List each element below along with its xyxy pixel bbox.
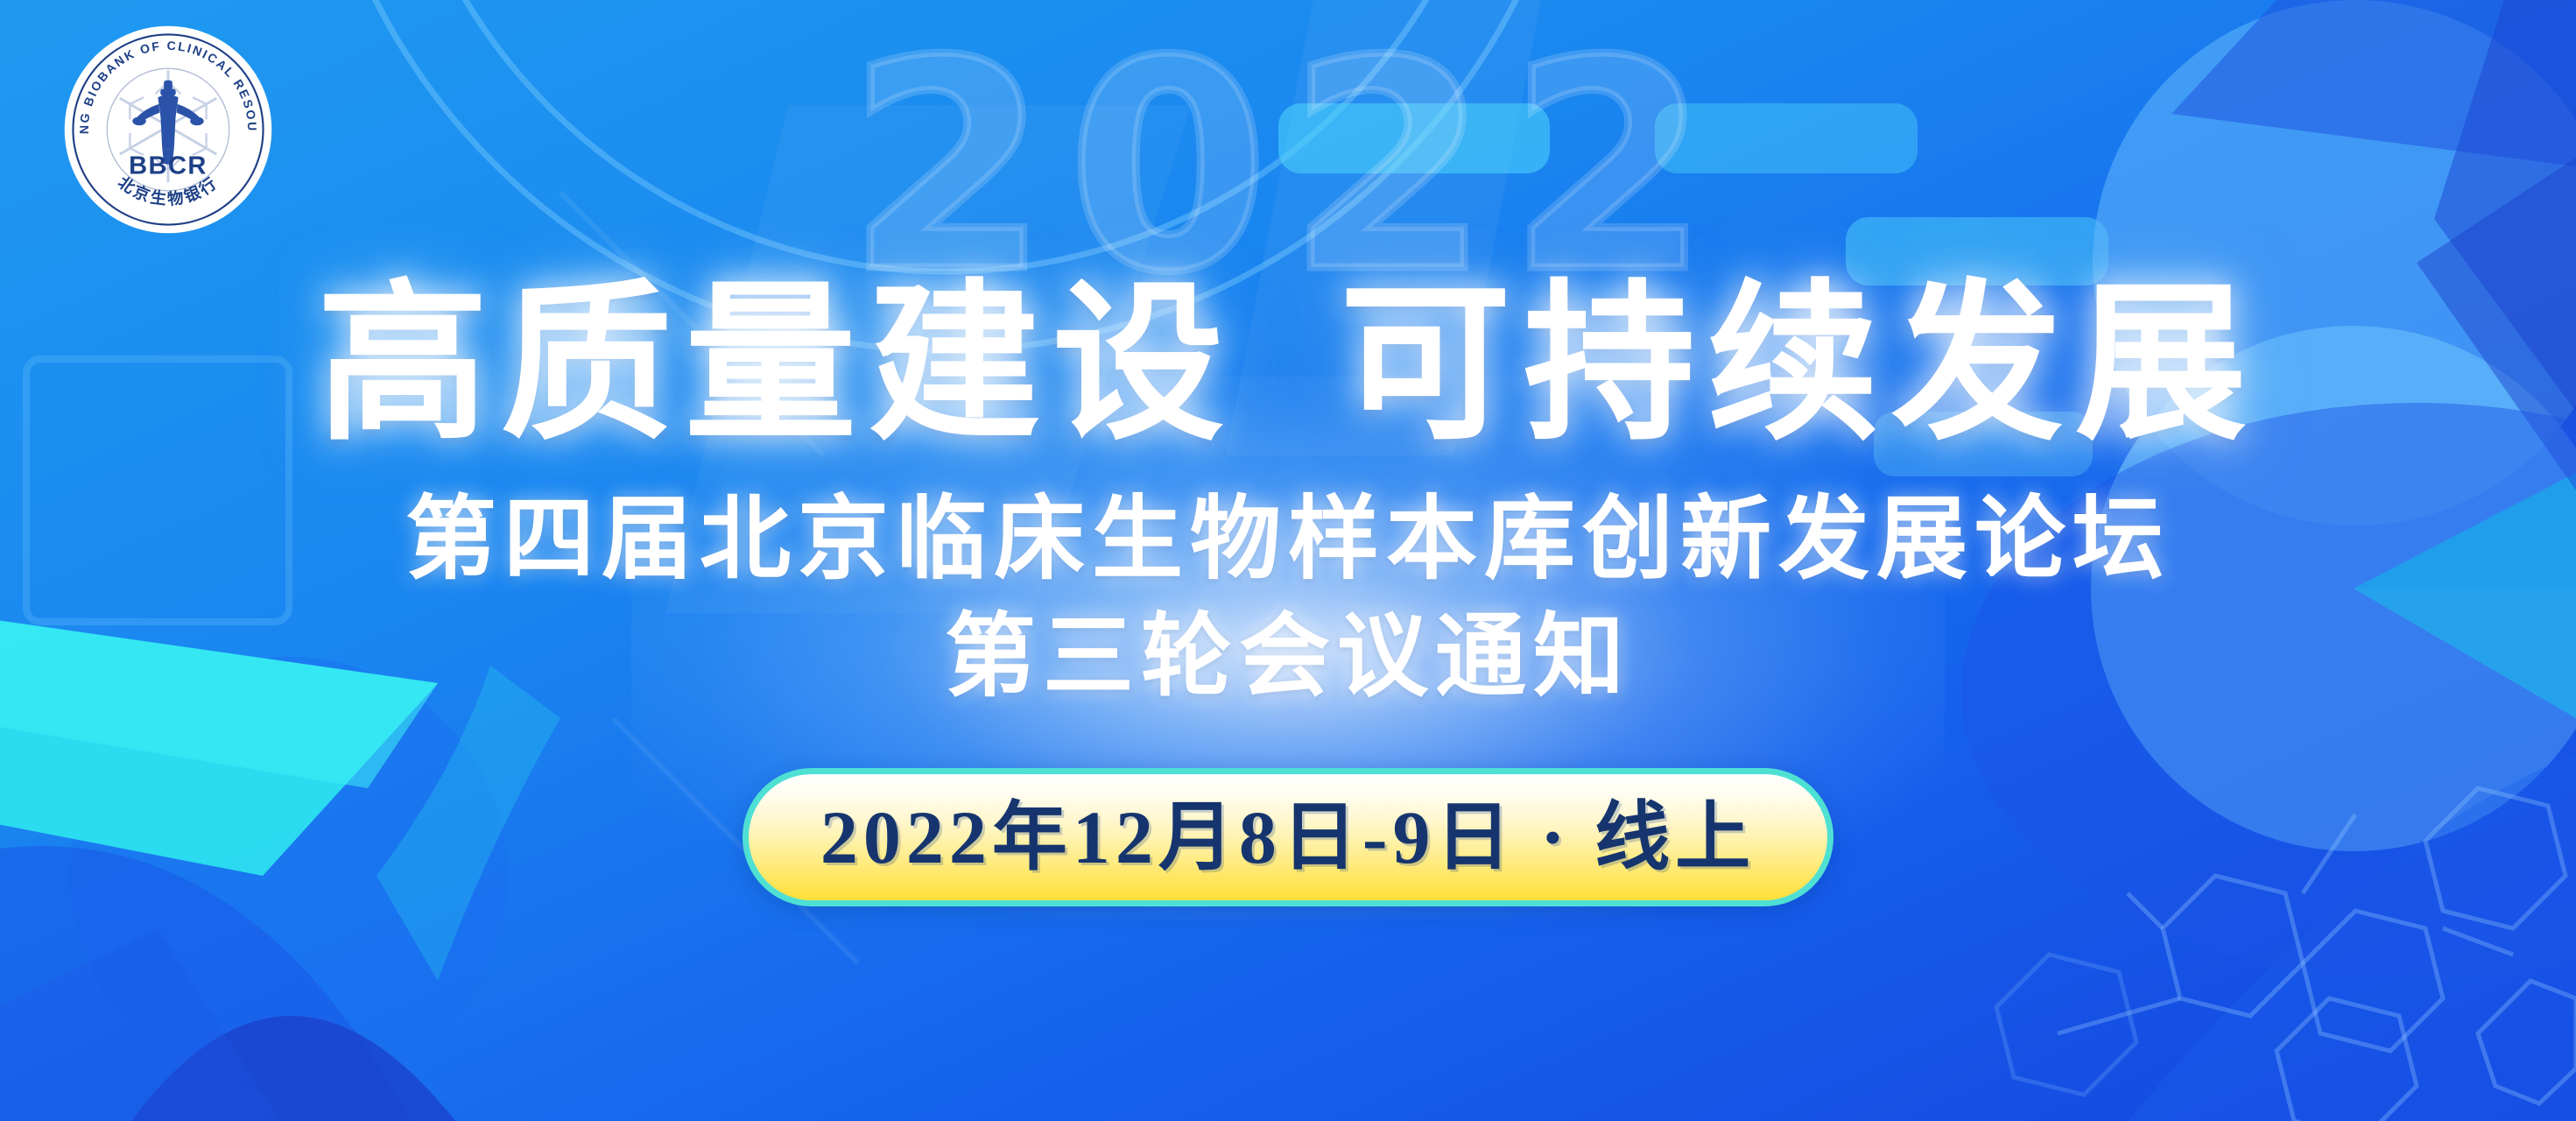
subtitle-line-2: 第三轮会议通知 [945,606,1631,708]
conference-banner: 2022 [0,0,2576,1121]
date-venue-pill: 2022年12月8日-9日 · 线上 [743,768,1833,906]
headline: 高质量建设 可持续发展 [317,278,2259,450]
headline-part-1: 高质量建设 [317,278,1236,450]
subtitle-line-1: 第四届北京临床生物样本库创新发展论坛 [405,489,2171,590]
headline-part-2: 可持续发展 [1340,278,2259,450]
date-venue-text: 2022年12月8日-9日 · 线上 [820,800,1756,875]
banner-content: 高质量建设 可持续发展 第四届北京临床生物样本库创新发展论坛 第三轮会议通知 2… [0,0,2576,1121]
